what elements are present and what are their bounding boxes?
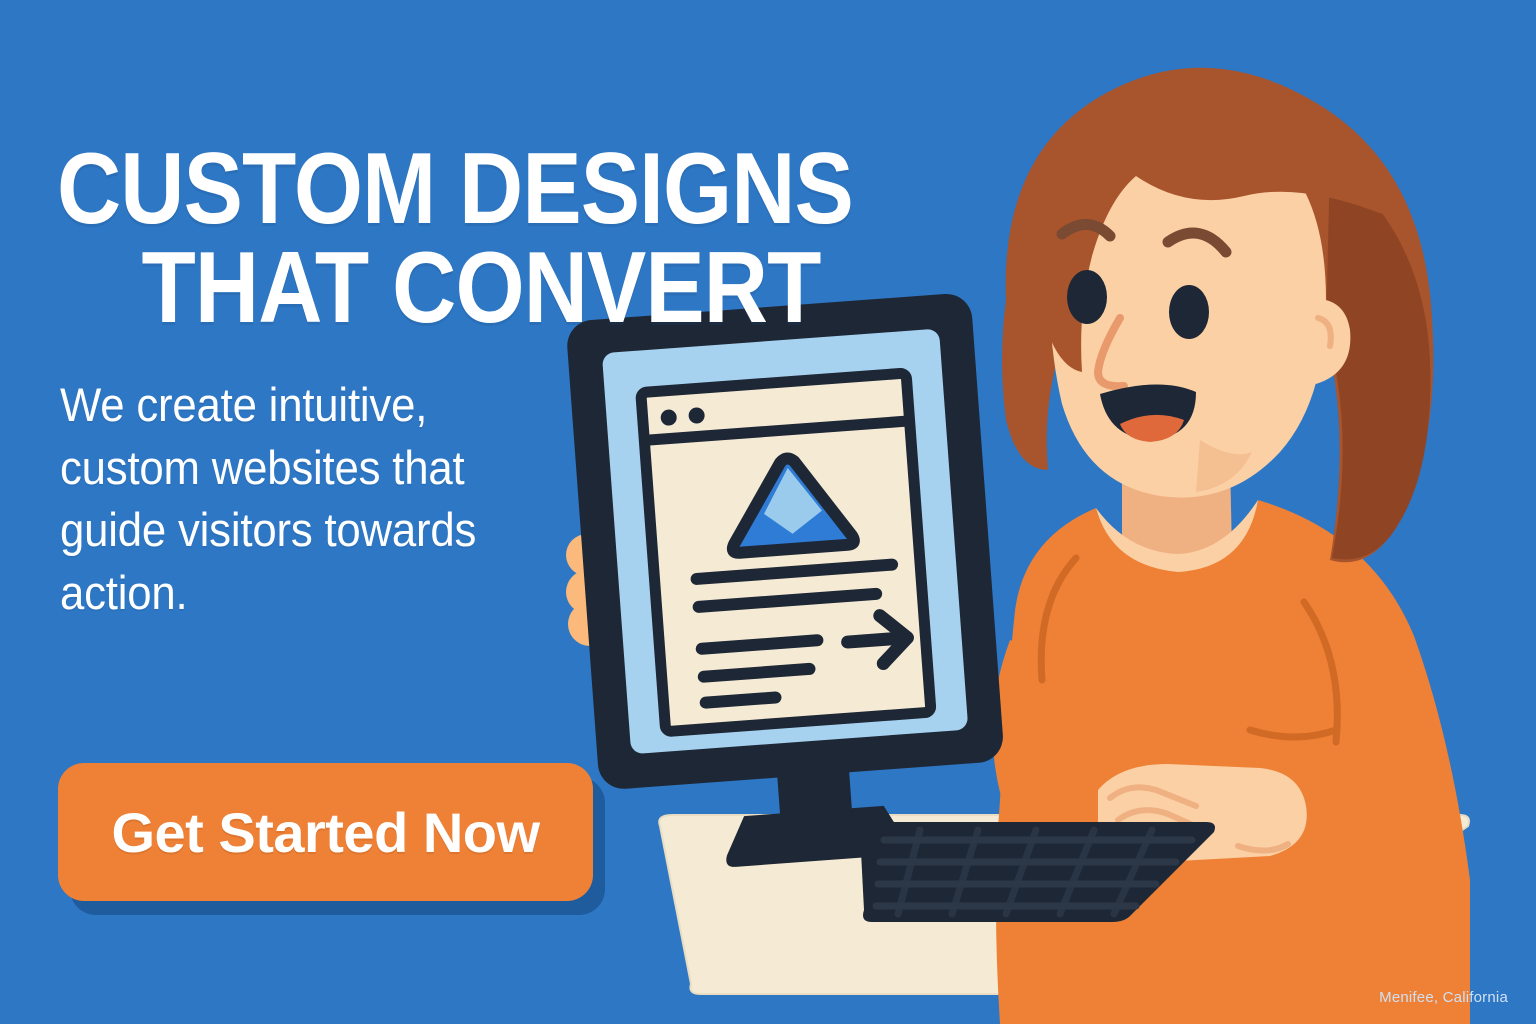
marketing-banner: CUSTOM DESIGNS THAT CONVERT We create in…	[0, 0, 1536, 1024]
page-title: CUSTOM DESIGNS THAT CONVERT	[57, 140, 867, 338]
get-started-button[interactable]: Get Started Now	[58, 763, 593, 901]
eye-right	[1169, 285, 1209, 339]
content-line-5	[706, 697, 776, 702]
browser-window-mockup	[641, 373, 931, 732]
headline-line-1: CUSTOM DESIGNS	[57, 133, 853, 245]
content-line-4	[704, 669, 810, 677]
subcopy-text: We create intuitive, custom websites tha…	[60, 374, 497, 624]
eye-left	[1067, 270, 1107, 324]
content-line-3	[702, 640, 818, 648]
location-caption: Menifee, California	[1379, 989, 1508, 1006]
cta-container: Get Started Now	[58, 763, 593, 901]
headline-line-2: THAT CONVERT	[57, 239, 867, 338]
